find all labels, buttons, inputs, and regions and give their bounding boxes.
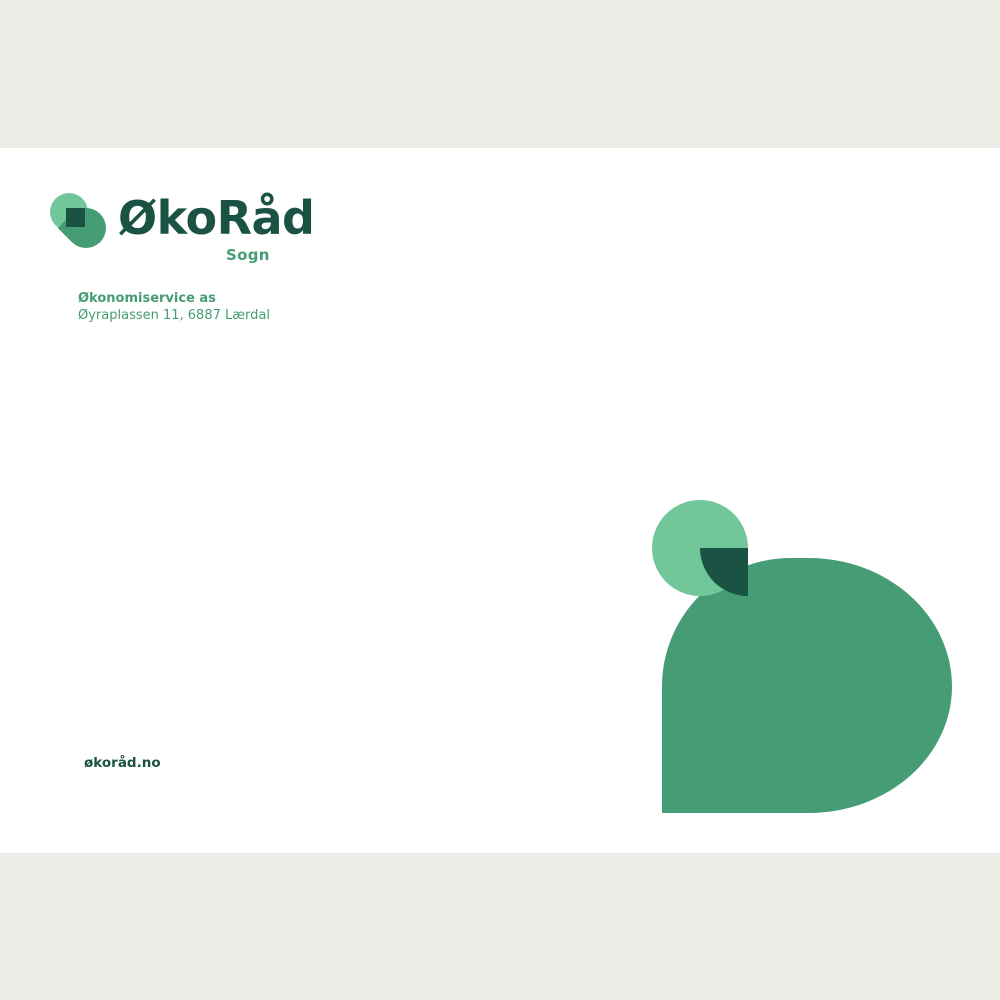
okorad-pin-logo-mark-icon <box>50 193 110 255</box>
brand-wordmark: ØkoRåd <box>118 190 314 246</box>
address-street-line: Øyraplassen 11, 6887 Lærdal <box>78 307 270 324</box>
brand-sub-wordmark: Sogn <box>226 246 270 264</box>
address-company-name: Økonomiservice as <box>78 290 270 307</box>
logo-overlap-shape <box>66 208 85 227</box>
logo-lockup: ØkoRåd Sogn <box>50 190 350 270</box>
decorative-teardrop-shape <box>662 558 952 813</box>
address-block: Økonomiservice as Øyraplassen 11, 6887 L… <box>78 290 270 324</box>
large-pin-graphic <box>652 500 952 813</box>
letterhead-sheet: ØkoRåd Sogn Økonomiservice as Øyraplasse… <box>0 148 1000 853</box>
footer-website-url[interactable]: økoråd.no <box>84 755 161 771</box>
